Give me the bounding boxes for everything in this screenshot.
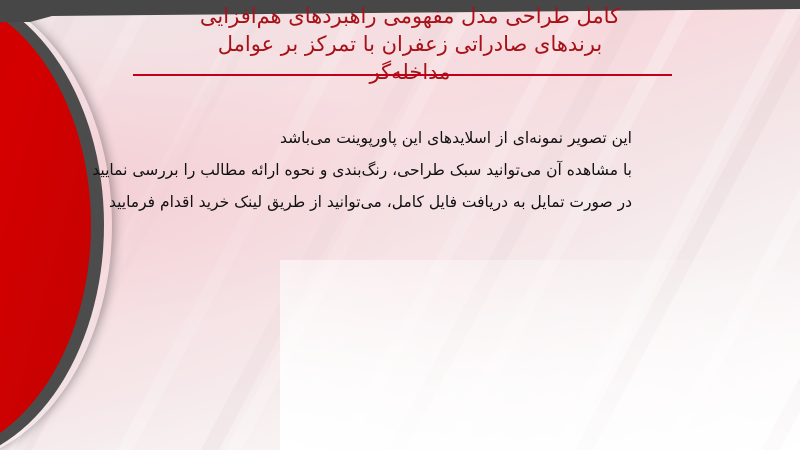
presentation-slide: کامل طراحی مدل مفهومی راهبردهای هم‌افزای… — [0, 0, 800, 450]
body-line-1: این تصویر نمونه‌ای از اسلایدهای این پاور… — [162, 122, 632, 154]
title-line-3: مداخله‌گر — [100, 58, 720, 86]
body-line-2: با مشاهده آن می‌توانید سبک طراحی، رنگ‌بن… — [162, 154, 632, 186]
body-line-3: در صورت تمایل به دریافت فایل کامل، می‌تو… — [162, 186, 632, 218]
title-line-1: کامل طراحی مدل مفهومی راهبردهای هم‌افزای… — [100, 2, 720, 30]
title-line-2: برندهای صادراتی زعفران با تمرکز بر عوامل — [100, 30, 720, 58]
title-underline-rule — [133, 74, 672, 76]
slide-body-text: این تصویر نمونه‌ای از اسلایدهای این پاور… — [162, 122, 632, 218]
